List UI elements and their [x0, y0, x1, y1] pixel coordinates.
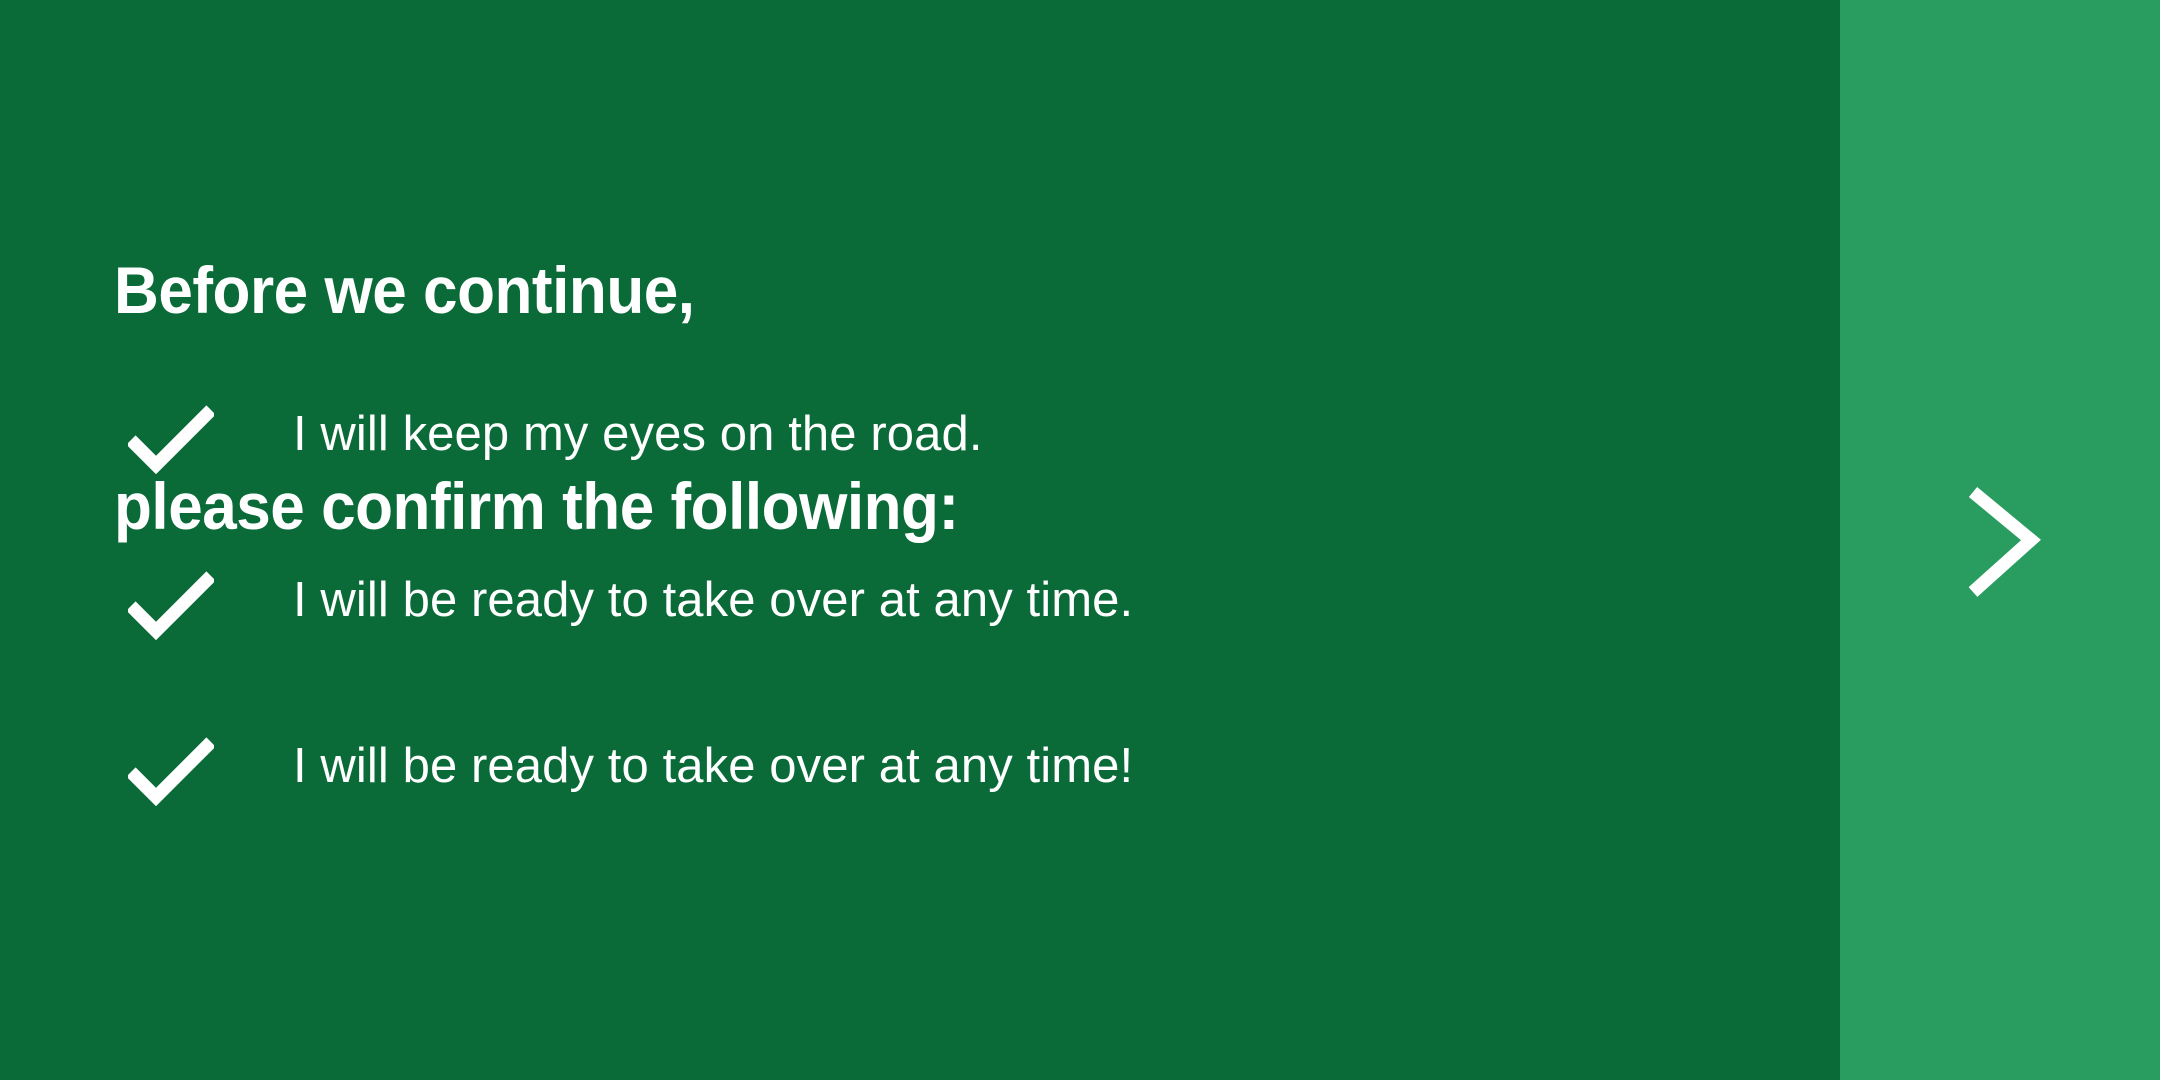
checklist-item-label: I will keep my eyes on the road.	[293, 396, 983, 472]
check-icon	[128, 570, 214, 640]
checklist-item-label: I will be ready to take over at any time…	[293, 728, 1133, 804]
checklist-item-label: I will be ready to take over at any time…	[293, 562, 1133, 638]
check-icon	[128, 404, 214, 474]
confirmation-screen: Before we continue, please confirm the f…	[0, 0, 2160, 1080]
checklist-item[interactable]: I will keep my eyes on the road.	[114, 390, 1714, 556]
chevron-right-icon[interactable]	[1955, 470, 2055, 610]
confirmation-checklist: I will keep my eyes on the road. I will …	[114, 390, 1714, 888]
check-icon	[128, 736, 214, 806]
checklist-item[interactable]: I will be ready to take over at any time…	[114, 556, 1714, 722]
checklist-item[interactable]: I will be ready to take over at any time…	[114, 722, 1714, 888]
page-title-line-1: Before we continue,	[114, 254, 1524, 326]
